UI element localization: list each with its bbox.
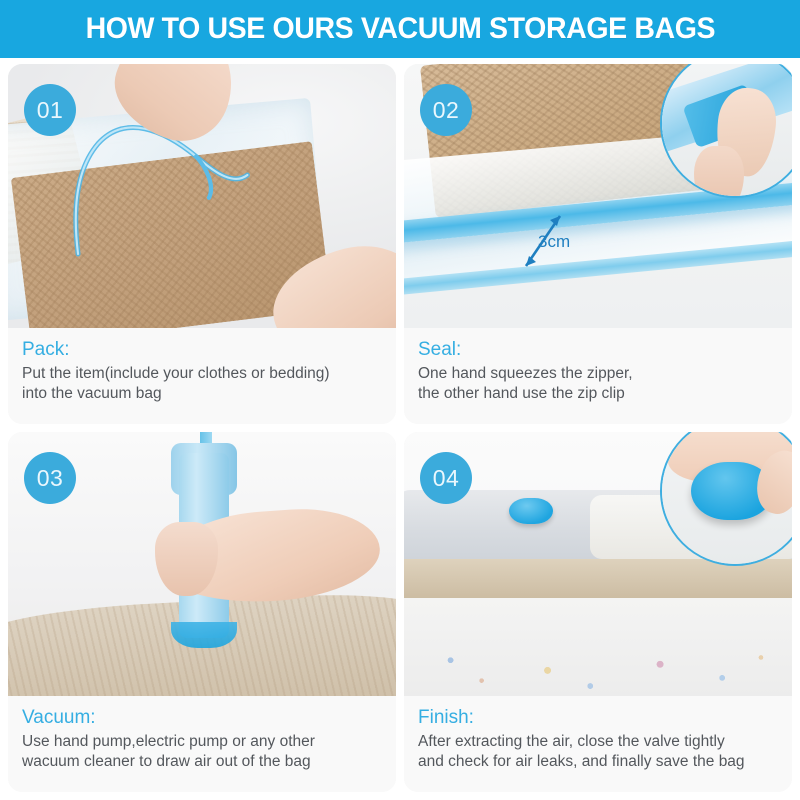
measurement-label: 3cm bbox=[538, 232, 570, 252]
floral-pattern bbox=[404, 633, 792, 696]
fingers bbox=[155, 522, 217, 596]
valve-cap bbox=[509, 498, 553, 524]
step-04-caption: Finish: After extracting the air, close … bbox=[404, 696, 792, 792]
step-01-body: Put the item(include your clothes or bed… bbox=[22, 364, 382, 403]
step-03-caption: Vacuum: Use hand pump,electric pump or a… bbox=[8, 696, 396, 792]
steps-grid: 01 Pack: Put the item(include your cloth… bbox=[0, 58, 800, 800]
step-badge-02: 02 bbox=[420, 84, 472, 136]
step-03-title: Vacuum: bbox=[22, 706, 382, 730]
step-01-caption: Pack: Put the item(include your clothes … bbox=[8, 328, 396, 424]
step-card-02: 3cm 02 Seal: One hand squeezes the zippe… bbox=[404, 64, 792, 424]
step-badge-01: 01 bbox=[24, 84, 76, 136]
step-02-title: Seal: bbox=[418, 338, 778, 362]
step-badge-03: 03 bbox=[24, 452, 76, 504]
step-card-01: 01 Pack: Put the item(include your cloth… bbox=[8, 64, 396, 424]
step-04-title: Finish: bbox=[418, 706, 778, 730]
page-header: HOW TO USE OURS VACUUM STORAGE BAGS bbox=[0, 0, 800, 58]
inset-valve-cap-closeup bbox=[660, 432, 792, 566]
step-card-04: 04 Finish: After extracting the air, clo… bbox=[404, 432, 792, 792]
inset-zip-clip-closeup bbox=[660, 64, 792, 198]
step-01-title: Pack: bbox=[22, 338, 382, 362]
step-badge-04: 04 bbox=[420, 452, 472, 504]
finger bbox=[694, 146, 744, 198]
step-card-03: 03 Vacuum: Use hand pump,electric pump o… bbox=[8, 432, 396, 792]
step-03-body: Use hand pump,electric pump or any other… bbox=[22, 732, 382, 771]
step-02-caption: Seal: One hand squeezes the zipper, the … bbox=[404, 328, 792, 424]
step-02-body: One hand squeezes the zipper, the other … bbox=[418, 364, 778, 403]
page-title: HOW TO USE OURS VACUUM STORAGE BAGS bbox=[85, 12, 715, 46]
step-04-body: After extracting the air, close the valv… bbox=[418, 732, 778, 771]
